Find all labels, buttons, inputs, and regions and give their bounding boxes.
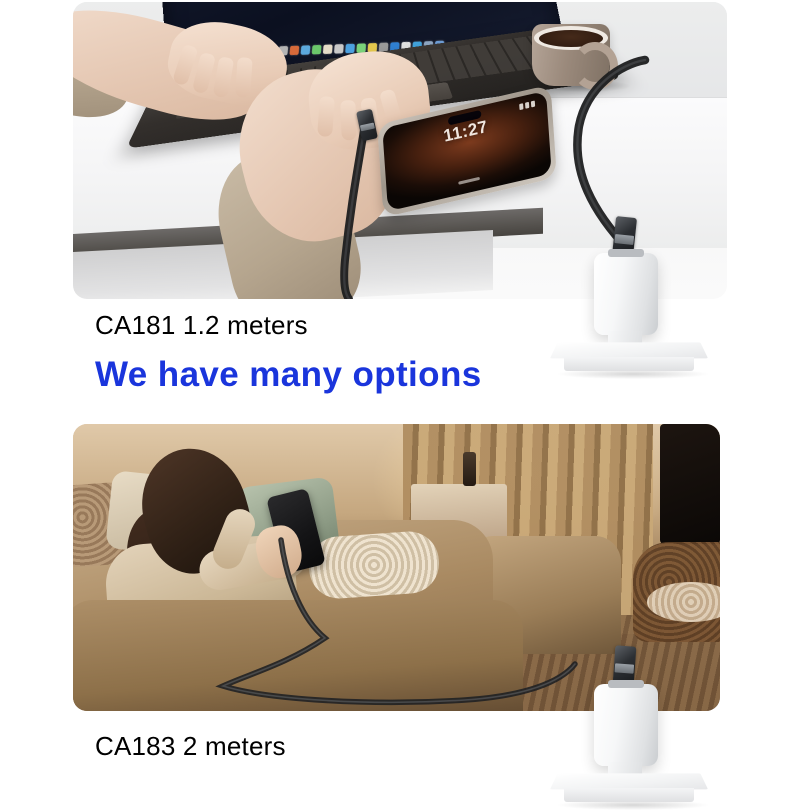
dock-app-icon (323, 45, 333, 55)
caption-ca181: CA181 1.2 meters (95, 310, 308, 341)
adapter-usb-port-top (608, 249, 644, 257)
dock-app-icon (345, 44, 355, 54)
mug-handle (572, 42, 618, 90)
dock-app-icon (334, 44, 344, 54)
dock-app-icon (301, 45, 311, 55)
caption-ca183: CA183 2 meters (95, 731, 286, 762)
display-pedestal-top (554, 337, 704, 377)
dark-object-right (660, 424, 720, 544)
coffee-mug (532, 16, 618, 88)
display-pedestal-bottom (554, 768, 704, 808)
wall-charger-adapter-bottom (594, 684, 658, 766)
fur-chair (633, 542, 720, 642)
wall-charger-adapter-top (594, 253, 658, 335)
product-detail-page: 11:27 CA181 1.2 meter (0, 0, 800, 800)
phone-home-indicator (458, 177, 480, 185)
dock-app-icon (289, 46, 299, 56)
headline-we-have-many-options: We have many options (95, 355, 482, 395)
dock-app-icon (312, 45, 322, 55)
adapter-usb-port-bottom (608, 680, 644, 688)
phone-statusbar (519, 100, 535, 110)
fur-chair-seat (647, 582, 720, 622)
vase (463, 452, 476, 486)
sofa-seat (73, 600, 523, 711)
